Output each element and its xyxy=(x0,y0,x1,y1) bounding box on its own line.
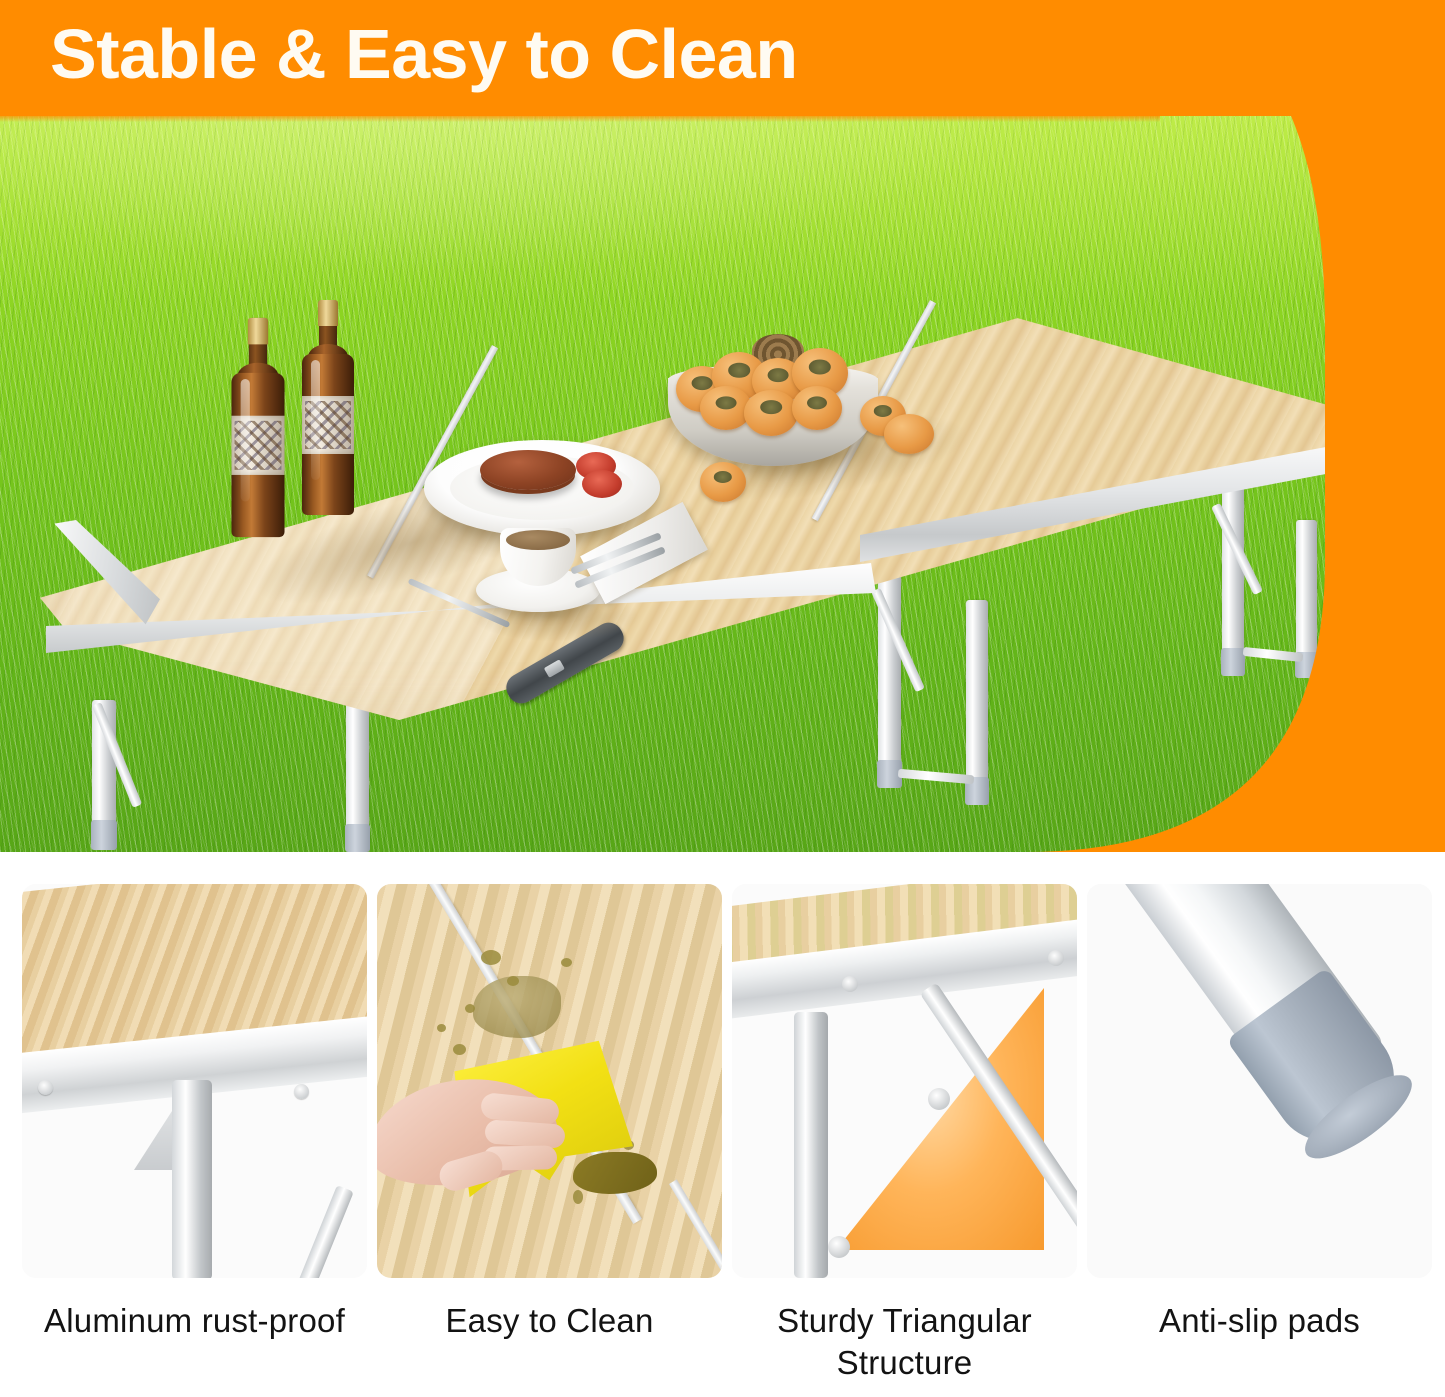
feature-image-aluminum-rust-proof xyxy=(22,884,367,1278)
bottle-highlight xyxy=(311,360,320,480)
rail-screw-right xyxy=(1048,950,1064,966)
rail-screw-right xyxy=(294,1084,309,1099)
folding-table xyxy=(0,0,1445,852)
wine-bottle-right xyxy=(302,300,354,515)
feature-caption-aluminum-rust-proof: Aluminum rust-proof xyxy=(22,1300,367,1342)
table-leg-mid-front xyxy=(966,600,988,792)
wine-bottle-left xyxy=(231,318,284,537)
feature-caption-easy-to-clean: Easy to Clean xyxy=(377,1300,722,1342)
liquid-spill xyxy=(473,976,561,1038)
leg-cap-front-right xyxy=(345,824,370,852)
leg-brace-right xyxy=(1243,647,1304,662)
cutlery-set xyxy=(568,520,688,580)
leg-brace-mid xyxy=(898,769,974,785)
bottle-highlight xyxy=(241,379,250,501)
spill-droplet xyxy=(573,1190,583,1204)
persimmon-loose-2 xyxy=(884,414,934,454)
aluminum-leg xyxy=(172,1080,212,1278)
bottle-label xyxy=(302,396,354,454)
burger-patty xyxy=(480,450,576,490)
page-title: Stable & Easy to Clean xyxy=(50,14,1150,94)
table-leg-far-right xyxy=(1296,520,1317,670)
leg-cap-rear-right xyxy=(1221,648,1245,676)
spill-droplet xyxy=(561,958,572,967)
feature-image-anti-slip-pads xyxy=(1087,884,1432,1278)
leg-cap-front-left xyxy=(91,820,117,850)
persimmon-calyx xyxy=(716,396,737,409)
persimmon-loose-3 xyxy=(700,462,746,502)
spill-droplet xyxy=(453,1044,466,1055)
persimmon-calyx xyxy=(760,401,782,415)
persimmon-calyx xyxy=(714,471,732,483)
persimmon-calyx xyxy=(809,360,831,375)
hero-photo xyxy=(0,0,1445,852)
persimmon-in-bowl-6 xyxy=(744,390,798,436)
feature-image-sturdy-triangular-structure xyxy=(732,884,1077,1278)
feature-caption-sturdy-triangular-structure: Sturdy Triangular Structure xyxy=(732,1300,1077,1384)
persimmon-calyx xyxy=(728,363,750,377)
persimmon-calyx xyxy=(807,396,827,409)
feature-caption-anti-slip-pads: Anti-slip pads xyxy=(1087,1300,1432,1342)
feature-image-easy-to-clean xyxy=(377,884,722,1278)
rail-screw-left xyxy=(842,976,858,992)
feature-cell-anti-slip-pads: Anti-slip pads xyxy=(1087,884,1432,1342)
pivot-joint-lower xyxy=(828,1236,850,1258)
persimmon-calyx xyxy=(874,405,892,417)
bottle-foil-cap xyxy=(318,300,338,326)
persimmon-calyx xyxy=(692,377,713,391)
feature-row: Aluminum rust-proof Easy to Clean xyxy=(0,884,1445,1397)
persimmon-calyx xyxy=(768,369,789,383)
pivot-joint-upper xyxy=(928,1088,950,1110)
title-band: Stable & Easy to Clean xyxy=(0,0,1445,116)
aluminum-leg xyxy=(794,1012,828,1278)
feature-cell-easy-to-clean: Easy to Clean xyxy=(377,884,722,1342)
spill-droplet xyxy=(481,950,501,965)
feature-cell-aluminum-rust-proof: Aluminum rust-proof xyxy=(22,884,367,1342)
spill-droplet xyxy=(465,1004,475,1013)
hero-section: Stable & Easy to Clean xyxy=(0,0,1445,852)
feature-cell-sturdy-triangular-structure: Sturdy Triangular Structure xyxy=(732,884,1077,1384)
spill-droplet xyxy=(437,1024,446,1032)
bottle-foil-cap xyxy=(248,318,268,345)
spill-droplet xyxy=(507,976,519,986)
bottle-label xyxy=(231,416,284,475)
coffee-surface xyxy=(506,530,570,550)
persimmon-in-bowl-7 xyxy=(792,386,842,430)
rail-screw-left xyxy=(38,1080,53,1095)
tomato-slice-2 xyxy=(582,470,622,498)
